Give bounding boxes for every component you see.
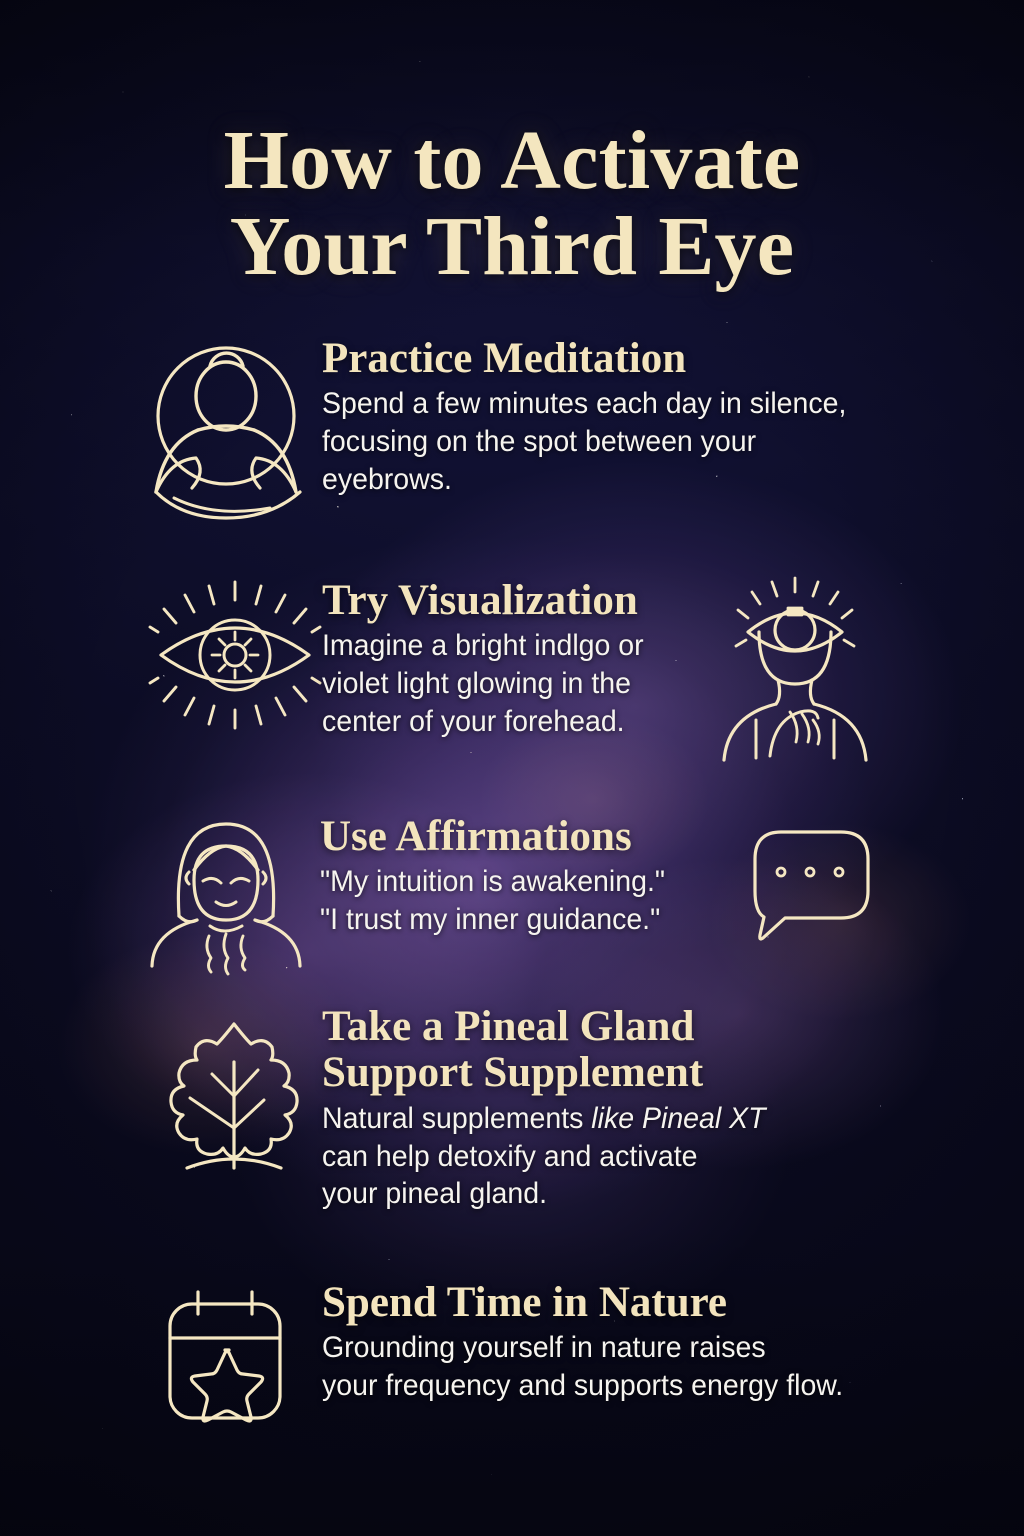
section-heading: Spend Time in Nature <box>322 1280 982 1326</box>
section-body: Spend a few minutes each day in silence,… <box>322 385 930 498</box>
body-text-before: Natural supplements <box>322 1102 591 1135</box>
person-third-eye-icon <box>712 572 878 764</box>
section-text-practice-meditation: Practice Meditation Spend a few minutes … <box>322 336 962 499</box>
section-body: Natural supplements like Pineal XT can h… <box>322 1100 911 1213</box>
third-eye-icon <box>145 576 325 734</box>
infographic-poster: How to Activate Your Third Eye <box>0 0 1024 1536</box>
speech-bubble-icon <box>748 826 874 940</box>
title-line-2: Your Third Eye <box>0 204 1024 290</box>
leaf-tree-icon <box>155 1018 313 1186</box>
title-line-1: How to Activate <box>224 114 801 207</box>
meditating-person-icon <box>140 338 315 518</box>
section-body: Grounding yourself in nature raises your… <box>322 1329 949 1405</box>
section-body: Imagine a bright indlgo or violet light … <box>322 627 702 740</box>
section-heading: Practice Meditation <box>322 336 962 382</box>
section-heading: Take a Pineal Gland Support Supplement <box>322 1004 942 1097</box>
section-heading: Try Visualization <box>322 578 722 624</box>
section-text-spend-time-nature: Spend Time in Nature Grounding yourself … <box>322 1280 982 1405</box>
section-heading: Use Affirmations <box>320 814 750 860</box>
body-text-after: can help detoxify and activate your pine… <box>322 1140 698 1211</box>
page-title: How to Activate Your Third Eye <box>0 118 1024 289</box>
section-body: "My intuition is awakening." "I trust my… <box>320 863 729 939</box>
calendar-star-icon <box>162 1284 288 1424</box>
section-text-try-visualization: Try Visualization Imagine a bright indlg… <box>322 578 722 741</box>
section-text-use-affirmations: Use Affirmations "My intuition is awaken… <box>320 814 750 939</box>
woman-face-icon <box>150 818 302 968</box>
section-text-pineal-supplement: Take a Pineal Gland Support Supplement N… <box>322 1004 942 1213</box>
body-text-italic: like Pineal XT <box>591 1102 765 1135</box>
